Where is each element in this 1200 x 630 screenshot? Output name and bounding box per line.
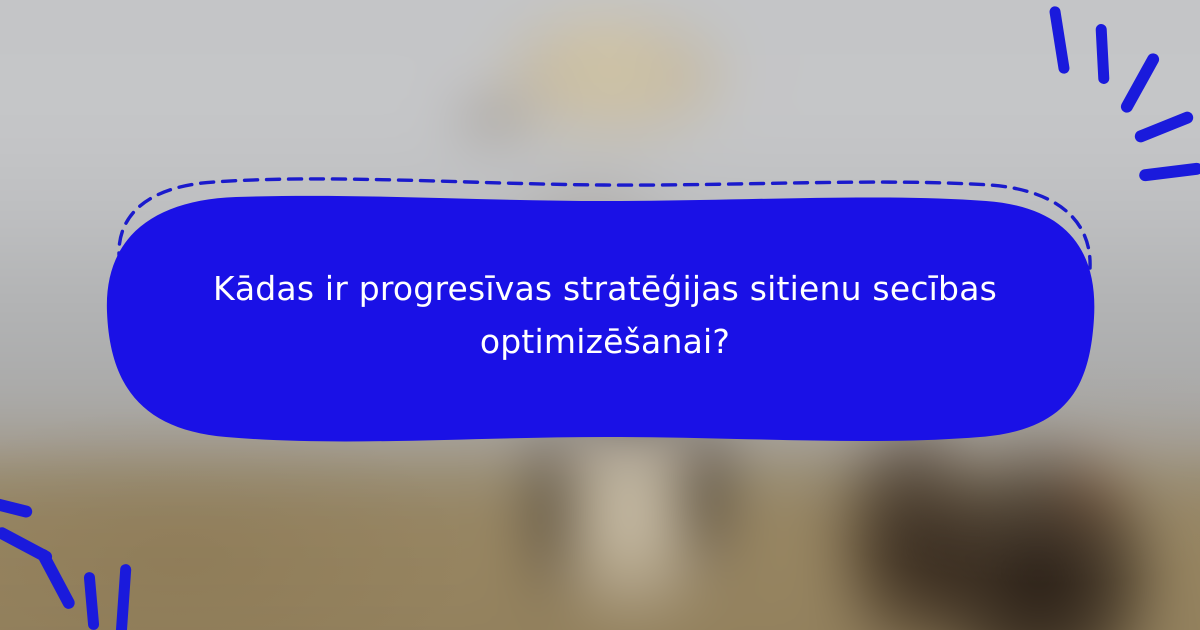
sparkle-burst-top-right-icon: [1040, 0, 1200, 150]
sparkle-burst-bottom-left-icon: [0, 466, 168, 630]
question-card-canvas: Kādas ir progresīvas stratēģijas sitienu…: [0, 0, 1200, 630]
question-text: Kādas ir progresīvas stratēģijas sitienu…: [160, 262, 1050, 369]
